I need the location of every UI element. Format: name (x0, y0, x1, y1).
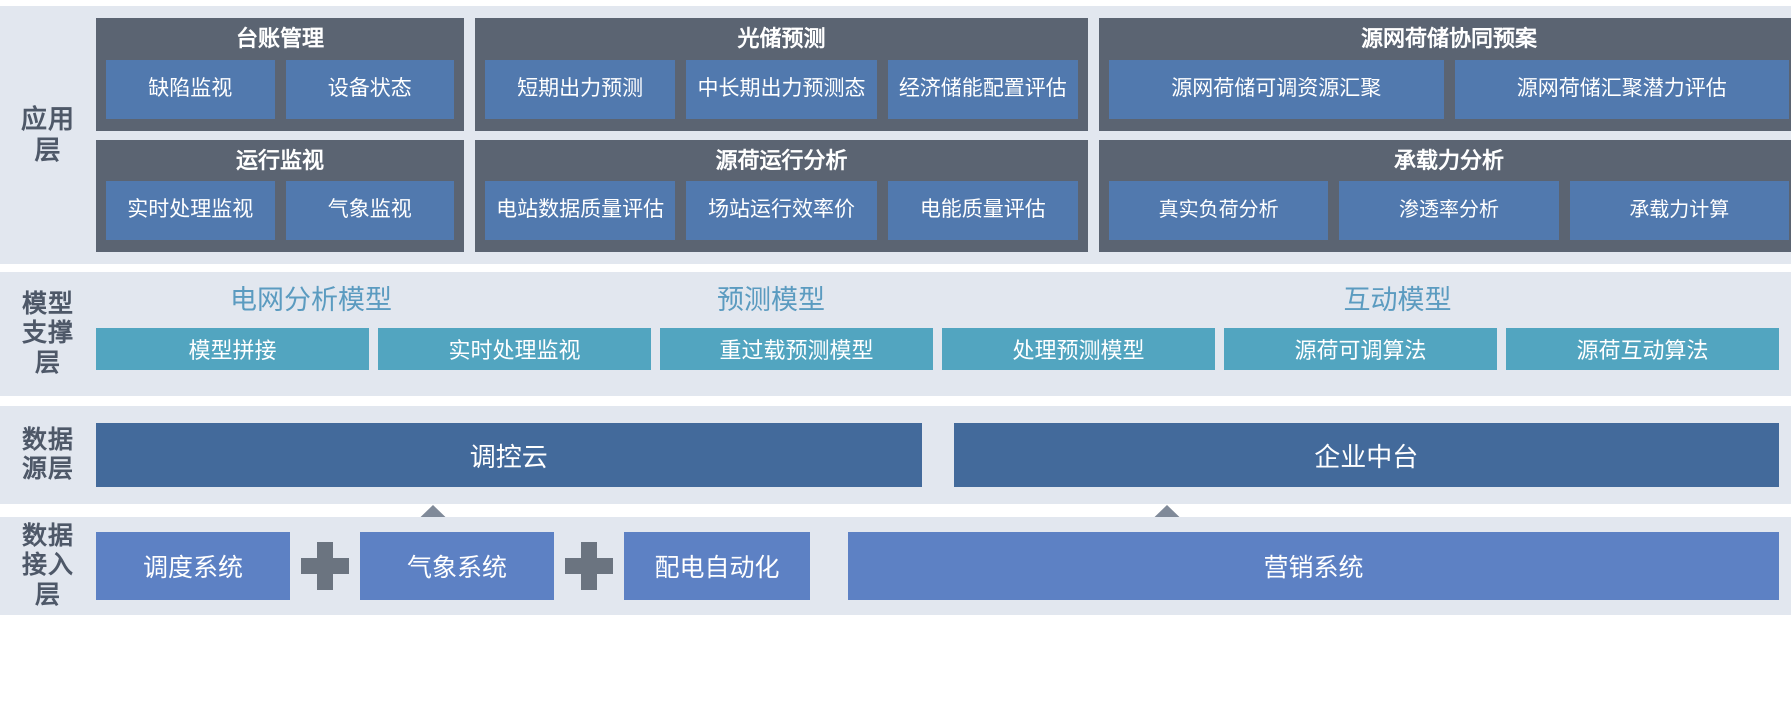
app-tile-mid-long-term-output-forecast[interactable]: 中长期出力预测态 (686, 60, 876, 119)
app-tile-penetration-rate-analysis[interactable]: 渗透率分析 (1339, 181, 1558, 240)
access-tile-weather-system[interactable]: 气象系统 (360, 532, 554, 600)
model-heading-forecast: 预测模型 (526, 287, 1016, 314)
data-access-layer: 数据 接入 层 调度系统 气象系统 配电自动化 营销系统 (0, 517, 1791, 615)
app-tile-carrying-capacity-calculation[interactable]: 承载力计算 (1570, 181, 1789, 240)
app-tile-station-data-quality-assessment[interactable]: 电站数据质量评估 (485, 181, 675, 240)
model-heading-interaction: 互动模型 (1016, 287, 1779, 314)
model-tile-model-stitching[interactable]: 模型拼接 (96, 328, 369, 370)
data-source-body: 调控云 企业中台 (96, 406, 1791, 504)
group-title: 光储预测 (737, 25, 825, 54)
model-tile-source-load-adjustable-algorithm[interactable]: 源荷可调算法 (1224, 328, 1497, 370)
plus-icon-1 (290, 532, 360, 600)
access-tile-distribution-automation[interactable]: 配电自动化 (624, 532, 810, 600)
app-tile-weather-monitoring[interactable]: 气象监视 (286, 181, 455, 240)
group-items: 缺陷监视 设备状态 (106, 60, 454, 119)
app-tile-real-load-analysis[interactable]: 真实负荷分析 (1109, 181, 1328, 240)
model-support-headings: 电网分析模型 预测模型 互动模型 (96, 272, 1779, 328)
group-title: 台账管理 (236, 25, 324, 54)
data-access-body: 调度系统 气象系统 配电自动化 营销系统 (96, 517, 1791, 615)
group-title: 源荷运行分析 (715, 147, 847, 176)
group-items: 短期出力预测 中长期出力预测态 经济储能配置评估 (485, 60, 1078, 119)
group-items: 电站数据质量评估 场站运行效率价 电能质量评估 (485, 181, 1078, 240)
group-title: 运行监视 (236, 147, 324, 176)
app-tile-station-operation-efficiency[interactable]: 场站运行效率价 (686, 181, 876, 240)
application-layer: 应用 层 台账管理 缺陷监视 设备状态 光储预测 短期出力预测 中长期出力预测态… (0, 6, 1791, 264)
group-title: 源网荷储协同预案 (1361, 25, 1537, 54)
plus-icon-2 (554, 532, 624, 600)
app-tile-realtime-processing-monitoring[interactable]: 实时处理监视 (106, 181, 275, 240)
model-support-layer: 模型 支撑 层 电网分析模型 预测模型 互动模型 模型拼接 实时处理监视 重过载… (0, 272, 1791, 396)
model-support-body: 电网分析模型 预测模型 互动模型 模型拼接 实时处理监视 重过载预测模型 处理预… (96, 272, 1791, 396)
group-source-grid-load-storage-plan[interactable]: 源网荷储协同预案 源网荷储可调资源汇聚 源网荷储汇聚潜力评估 (1099, 18, 1791, 131)
data-source-layer: 数据 源层 调控云 企业中台 (0, 406, 1791, 504)
group-operation-monitoring[interactable]: 运行监视 实时处理监视 气象监视 (96, 140, 464, 253)
group-items: 源网荷储可调资源汇聚 源网荷储汇聚潜力评估 (1109, 60, 1789, 119)
data-access-layer-label: 数据 接入 层 (0, 517, 96, 615)
model-tile-realtime-processing-monitoring[interactable]: 实时处理监视 (378, 328, 651, 370)
group-title: 承载力分析 (1394, 147, 1504, 176)
app-tile-device-status[interactable]: 设备状态 (286, 60, 455, 119)
application-layer-groups: 台账管理 缺陷监视 设备状态 光储预测 短期出力预测 中长期出力预测态 经济储能… (96, 6, 1791, 264)
group-ledger-management[interactable]: 台账管理 缺陷监视 设备状态 (96, 18, 464, 131)
source-tile-dispatch-cloud[interactable]: 调控云 (96, 423, 922, 487)
app-tile-short-term-output-forecast[interactable]: 短期出力预测 (485, 60, 675, 119)
group-items: 实时处理监视 气象监视 (106, 181, 454, 240)
group-source-load-operation-analysis[interactable]: 源荷运行分析 电站数据质量评估 场站运行效率价 电能质量评估 (475, 140, 1088, 253)
app-tile-adjustable-resource-aggregation[interactable]: 源网荷储可调资源汇聚 (1109, 60, 1444, 119)
group-carrying-capacity-analysis[interactable]: 承载力分析 真实负荷分析 渗透率分析 承载力计算 (1099, 140, 1791, 253)
data-source-layer-label: 数据 源层 (0, 406, 96, 504)
app-tile-economic-storage-config-assessment[interactable]: 经济储能配置评估 (888, 60, 1078, 119)
group-items: 真实负荷分析 渗透率分析 承载力计算 (1109, 181, 1789, 240)
model-tile-source-load-interaction-algorithm[interactable]: 源荷互动算法 (1506, 328, 1779, 370)
model-tile-overload-forecast-model[interactable]: 重过载预测模型 (660, 328, 933, 370)
app-tile-defect-monitoring[interactable]: 缺陷监视 (106, 60, 275, 119)
model-tile-processing-forecast-model[interactable]: 处理预测模型 (942, 328, 1215, 370)
access-tile-marketing-system[interactable]: 营销系统 (848, 532, 1779, 600)
access-tile-dispatch-system[interactable]: 调度系统 (96, 532, 290, 600)
model-support-tiles: 模型拼接 实时处理监视 重过载预测模型 处理预测模型 源荷可调算法 源荷互动算法 (96, 328, 1779, 370)
model-heading-grid-analysis: 电网分析模型 (96, 287, 526, 314)
group-pv-storage-forecast[interactable]: 光储预测 短期出力预测 中长期出力预测态 经济储能配置评估 (475, 18, 1088, 131)
architecture-diagram: 应用 层 台账管理 缺陷监视 设备状态 光储预测 短期出力预测 中长期出力预测态… (0, 0, 1791, 716)
source-tile-enterprise-midplatform[interactable]: 企业中台 (954, 423, 1780, 487)
app-tile-aggregation-potential-assessment[interactable]: 源网荷储汇聚潜力评估 (1455, 60, 1790, 119)
model-support-layer-label: 模型 支撑 层 (0, 272, 96, 396)
app-tile-power-quality-assessment[interactable]: 电能质量评估 (888, 181, 1078, 240)
application-layer-label: 应用 层 (0, 6, 96, 264)
